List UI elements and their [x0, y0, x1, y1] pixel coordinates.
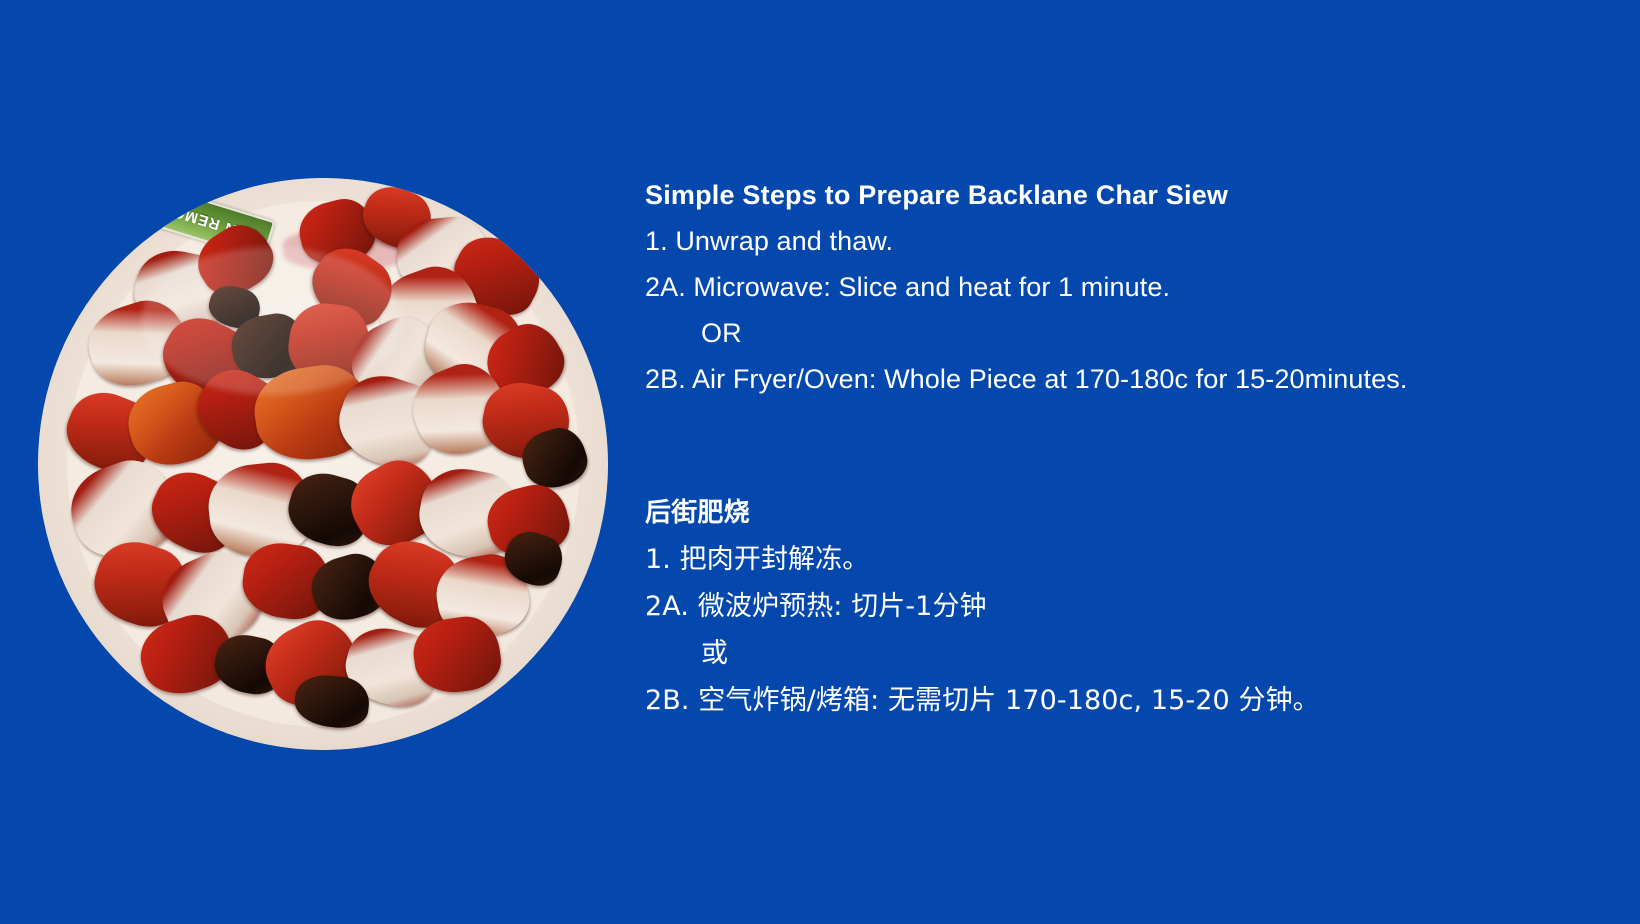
chinese-step-or: 或: [645, 630, 1605, 677]
chinese-step-2b: 2B. 空气炸锅/烤箱: 无需切片 170-180c, 15-20 分钟。: [645, 677, 1605, 724]
chinese-heading: 后街肥烧: [645, 490, 1605, 536]
chinese-instructions: 后街肥烧 1. 把肉开封解冻。 2A. 微波炉预热: 切片-1分钟 或 2B. …: [645, 490, 1605, 724]
poster-canvas: SAN REMO: [0, 0, 1640, 924]
char-siew-photo: SAN REMO: [38, 178, 608, 750]
english-step-2a: 2A. Microwave: Slice and heat for 1 minu…: [645, 264, 1605, 310]
english-instructions: Simple Steps to Prepare Backlane Char Si…: [645, 172, 1605, 402]
chinese-step-1: 1. 把肉开封解冻。: [645, 536, 1605, 583]
english-heading: Simple Steps to Prepare Backlane Char Si…: [645, 172, 1605, 218]
english-step-or: OR: [645, 310, 1605, 356]
english-step-1: 1. Unwrap and thaw.: [645, 218, 1605, 264]
photo-sheen: [141, 247, 403, 396]
chinese-step-2a: 2A. 微波炉预热: 切片-1分钟: [645, 583, 1605, 630]
english-step-2b: 2B. Air Fryer/Oven: Whole Piece at 170-1…: [645, 356, 1605, 402]
instructions-column: Simple Steps to Prepare Backlane Char Si…: [645, 172, 1605, 724]
